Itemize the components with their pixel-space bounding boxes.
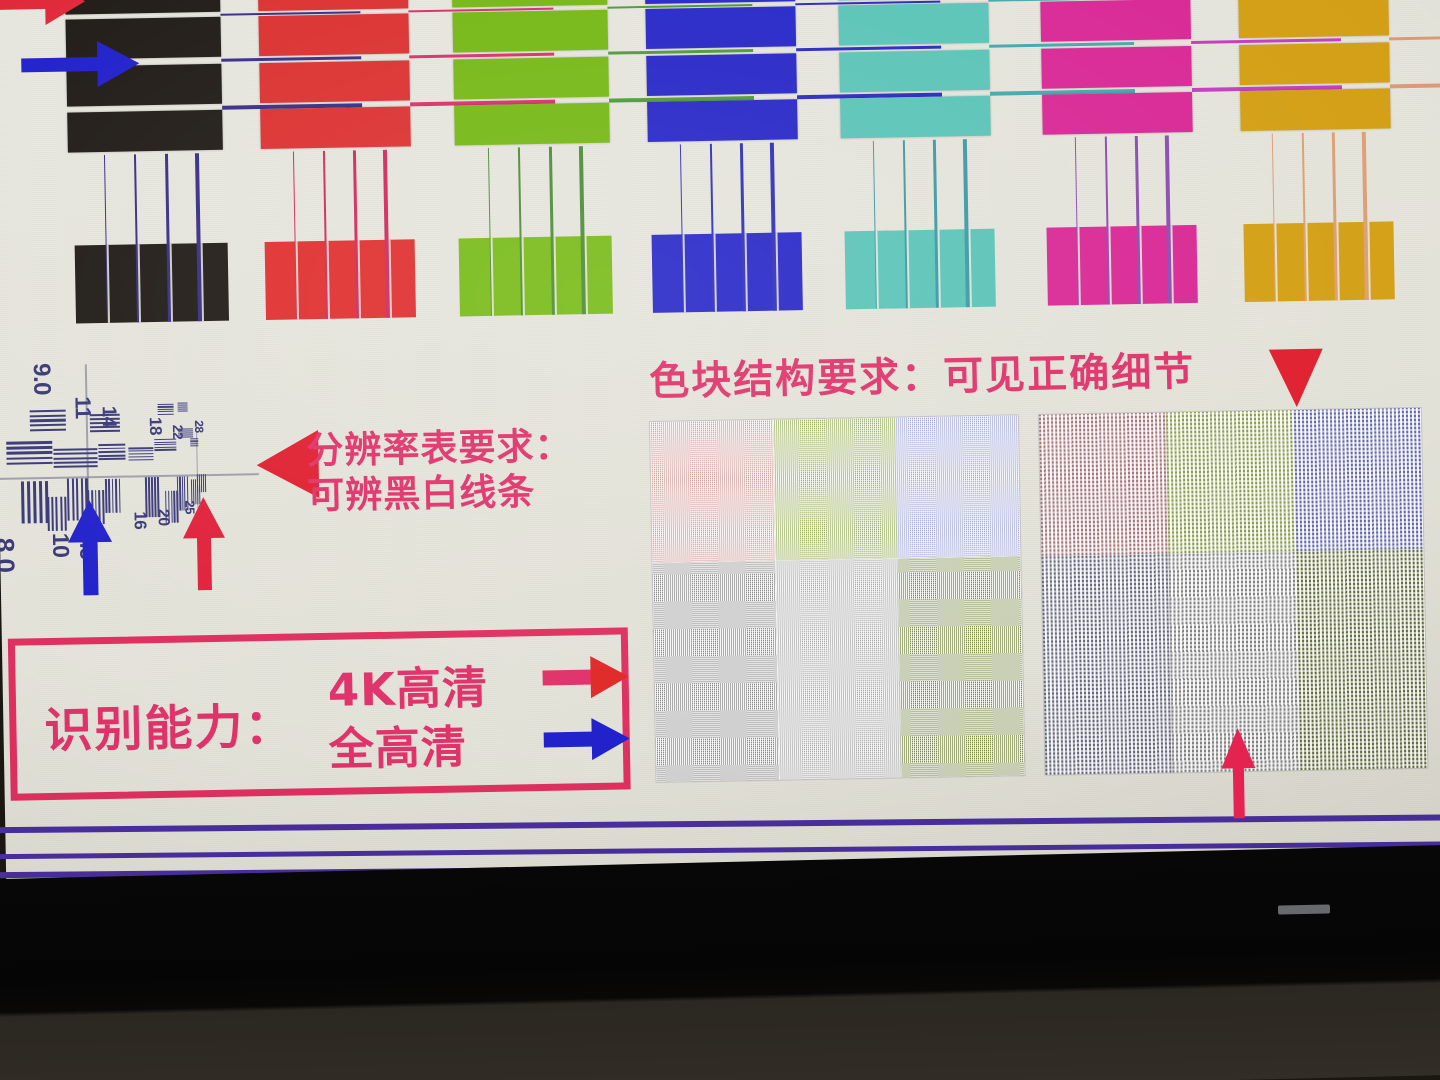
res-bar: [154, 446, 176, 448]
row2-column-red: [263, 149, 416, 320]
recognition-legend-box: 识别能力： 4K高清 全高清: [8, 627, 631, 800]
res-bar: [128, 453, 153, 455]
res-bar: [154, 444, 176, 446]
row1-block: [840, 96, 991, 139]
res-chart-number: 18: [145, 417, 165, 435]
res-bar: [98, 451, 125, 453]
legend-fhd-arrow-icon: [543, 718, 630, 760]
patch-texture: [773, 417, 898, 560]
row1-block: [258, 0, 409, 11]
patch-pink: [650, 420, 775, 563]
res-bar: [30, 419, 66, 422]
row1-block: [839, 50, 990, 93]
patch-red-arrow: [1220, 728, 1258, 819]
resolution-test-chart: 7.19.011141822288.01012.5162025: [0, 341, 271, 596]
screenshot-root: 7.19.011141822288.01012.5162025 分辨率表要求： …: [0, 0, 1440, 1080]
patch-moss-green: [1296, 549, 1427, 770]
row1-block: [65, 0, 221, 15]
row1-block: [646, 53, 797, 96]
row1-block: [1240, 88, 1391, 131]
res-bar: [178, 408, 188, 409]
row1-block: [259, 60, 410, 103]
res-bar: [27, 481, 31, 523]
patch-texture: [895, 415, 1020, 558]
res-bar: [30, 414, 66, 417]
top-blue-arrow: [21, 40, 140, 88]
res-bar-group-v: [21, 482, 22, 524]
res-bar: [90, 429, 120, 432]
row1-block: [67, 110, 223, 153]
bezel-highlight: [1278, 904, 1330, 914]
res-bar: [30, 410, 66, 413]
row2-column-black: [73, 153, 229, 324]
res-bar: [128, 450, 153, 452]
patch-grey-dark: [653, 561, 780, 782]
color-red-triangle-icon: [1269, 349, 1324, 408]
row2-column-magenta: [1045, 135, 1198, 306]
res-bar: [30, 428, 66, 431]
patch-texture: [1296, 549, 1427, 770]
row2-column-blue: [650, 142, 803, 313]
row2-column-teal: [843, 139, 996, 310]
row1-block: [452, 0, 608, 8]
res-bar: [53, 452, 97, 455]
row1-block: [452, 10, 608, 53]
res-bar-group-v: [177, 477, 178, 511]
patch-rose: [1039, 413, 1169, 556]
res-bar-group-v: [47, 497, 48, 531]
res-bar: [7, 462, 53, 465]
res-bar: [128, 447, 153, 449]
res-bar: [51, 497, 54, 531]
res-chart-number: 9.0: [27, 363, 56, 395]
row1-block: [838, 3, 989, 46]
row1-block: [453, 57, 609, 100]
row2-column-gold: [1242, 131, 1395, 302]
res-bar: [98, 444, 125, 446]
res-bar: [60, 497, 63, 531]
res-bar: [158, 406, 174, 407]
res-red-arrow: [182, 497, 226, 591]
res-bar: [98, 454, 125, 456]
res-chart-number: 11: [69, 396, 95, 419]
res-bar: [129, 459, 154, 461]
patch-lime-green: [1166, 410, 1296, 553]
row2-block: [459, 236, 613, 317]
legend-4k-arrow-icon: [542, 656, 629, 698]
patch-texture: [653, 561, 780, 782]
res-bar: [6, 451, 52, 454]
monitor-bezel: [0, 844, 1440, 1080]
color-block-requirement-annotation: 色块结构要求：可见正确细节: [649, 339, 1196, 407]
row1-block: [258, 13, 409, 56]
patch-slate: [1041, 554, 1172, 775]
patch-texture: [1294, 408, 1424, 551]
res-bar: [118, 479, 120, 513]
patch-texture: [1039, 413, 1169, 556]
row2-block: [652, 232, 803, 313]
row1-block: [1041, 46, 1192, 89]
resolution-requirement-line1: 分辨率表要求：: [306, 423, 573, 473]
res-bar: [6, 457, 52, 460]
res-bar: [204, 474, 205, 492]
res-bar: [6, 446, 52, 449]
display-surface: 7.19.011141822288.01012.5162025 分辨率表要求： …: [0, 0, 1440, 914]
row1-block: [1239, 42, 1390, 85]
res-bar: [158, 413, 174, 414]
res-chart-number: 22: [170, 424, 186, 439]
res-bar: [154, 441, 176, 443]
res-bar: [21, 481, 25, 523]
row2-block: [1046, 225, 1197, 306]
resolution-requirement-annotation: 分辨率表要求： 可辨黑白线条: [306, 423, 574, 518]
row1-block: [1238, 0, 1389, 38]
patch-texture: [898, 556, 1025, 777]
res-bar: [54, 457, 98, 460]
row1-block: [645, 6, 796, 49]
row1-block: [647, 99, 798, 142]
left-colour-patch-grid: [650, 415, 1025, 782]
patch-texture: [650, 420, 775, 563]
res-bar-group-h: [30, 410, 66, 411]
res-bar-group-h: [6, 441, 52, 442]
res-bar: [158, 404, 174, 405]
row1-thin-line: [1390, 82, 1440, 89]
res-bar: [54, 461, 98, 464]
patch-grey-light: [775, 559, 902, 780]
res-bar: [53, 448, 97, 451]
row2-block: [75, 243, 229, 324]
res-chart-number: 20: [153, 509, 171, 526]
res-bar: [33, 481, 37, 523]
res-bar: [98, 447, 125, 449]
row1-thin-line: [1389, 35, 1440, 41]
res-chart-number: 28: [192, 420, 206, 433]
row2-block: [265, 239, 416, 320]
row2-block: [844, 229, 995, 310]
row1-block: [260, 106, 411, 149]
res-chart-number: 8.0: [0, 538, 21, 573]
res-bar: [6, 441, 52, 444]
res-chart-axis: [0, 473, 259, 480]
res-bar: [178, 404, 188, 405]
row2-column-green: [457, 146, 613, 317]
resolution-requirement-line2: 可辨黑白线条: [307, 468, 574, 518]
res-bar: [158, 409, 174, 410]
res-bar: [158, 411, 174, 412]
res-bar: [178, 410, 188, 411]
row1-block: [454, 103, 610, 146]
res-bar: [54, 465, 98, 468]
row1-block: [1042, 92, 1193, 135]
res-bar: [56, 497, 59, 531]
res-bar: [174, 491, 176, 523]
patch-texture: [775, 559, 902, 780]
res-bar: [99, 458, 126, 460]
patch-texture: [1166, 410, 1296, 553]
res-bar: [115, 479, 117, 513]
legend-4k-label: 4K高清: [327, 651, 488, 719]
row2-block: [1243, 221, 1394, 302]
res-bar: [30, 424, 66, 427]
right-colour-patch-grid: [1039, 408, 1428, 775]
res-bar-group-h: [53, 448, 97, 449]
top-red-arrow: [0, 0, 86, 26]
legend-fhd-label: 全高清: [328, 710, 467, 778]
row1-block: [645, 0, 796, 4]
patch-moss-green: [898, 556, 1025, 777]
res-bar: [39, 481, 43, 523]
res-bar: [154, 449, 176, 451]
res-bar: [47, 497, 50, 531]
row1-column-gold: [1238, 0, 1440, 141]
legend-title: 识别能力：: [44, 687, 295, 762]
res-chart-number: 14: [97, 406, 120, 428]
patch-periwinkle: [895, 415, 1020, 558]
row1-block: [1040, 0, 1191, 42]
res-bar: [128, 456, 153, 458]
res-chart-number: 16: [130, 511, 150, 529]
res-bar: [190, 445, 198, 446]
res-blue-arrow: [67, 500, 113, 596]
res-bar: [112, 479, 114, 513]
patch-blue: [1294, 408, 1424, 551]
patch-texture: [1041, 554, 1172, 775]
patch-olive-green: [773, 417, 898, 560]
